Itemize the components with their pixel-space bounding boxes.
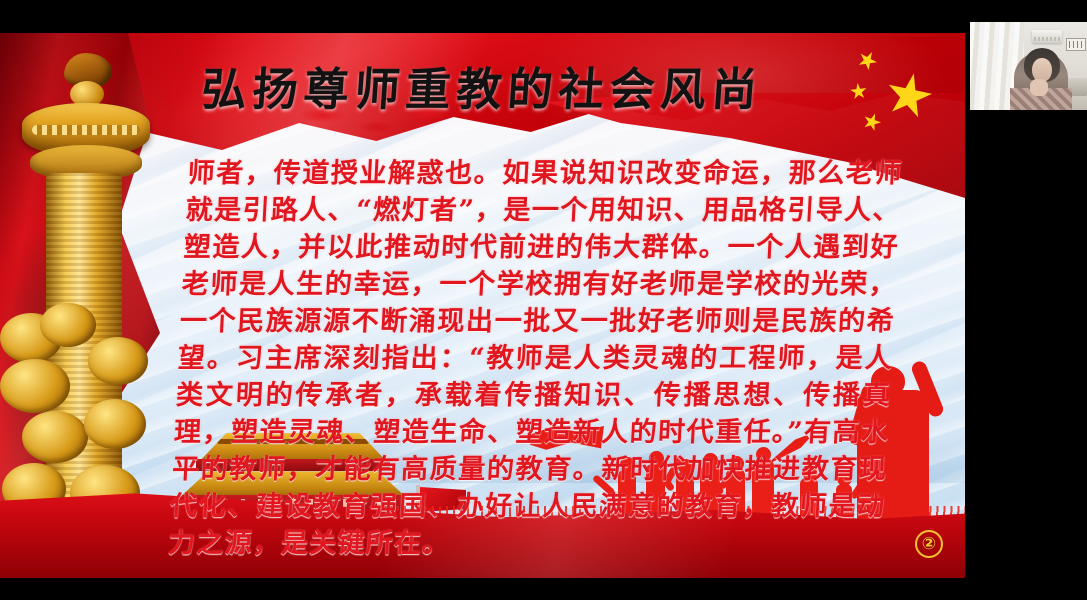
screen-root: 弘扬尊师重教的社会风尚 师者，传道授业解惑也。如果说知识改变命运，那么老师就是引… [0, 0, 1087, 600]
slide-title: 弘扬尊师重教的社会风尚 [200, 53, 766, 118]
webcam-video-panel[interactable] [970, 22, 1087, 110]
slide-body-text: 师者，传道授业解惑也。如果说知识改变命运，那么老师就是引路人、“燃灯者”，是一个… [167, 155, 903, 562]
ink-brush-accent [300, 105, 460, 139]
slide-canvas: 弘扬尊师重教的社会风尚 师者，传道授业解惑也。如果说知识改变命运，那么老师就是引… [0, 33, 965, 578]
title-area: 弘扬尊师重教的社会风尚 [0, 53, 965, 118]
page-number-badge: ② [915, 530, 943, 558]
webcam-exposure-veil [970, 22, 1087, 110]
